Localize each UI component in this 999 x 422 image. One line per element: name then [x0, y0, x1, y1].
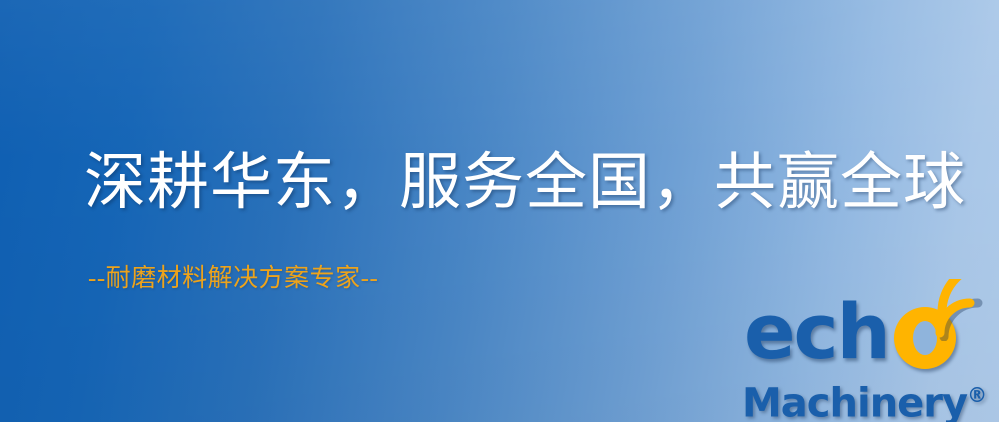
echo-machinery-logo[interactable]: ech Machinery®	[742, 293, 999, 422]
signal-wave-icon	[928, 279, 999, 341]
subtitle-text: --耐磨材料解决方案专家--	[88, 264, 378, 294]
promotional-hero-banner: 深耕华东，服务全国，共赢全球 --耐磨材料解决方案专家-- ech	[0, 0, 999, 422]
headline-text: 深耕华东，服务全国，共赢全球	[84, 147, 966, 219]
logo-machinery-word: Machinery	[742, 380, 967, 422]
logo-echo-prefix-text: ech	[744, 289, 889, 375]
logo-machinery-text: Machinery®	[742, 371, 987, 422]
registered-trademark-icon: ®	[967, 383, 987, 407]
logo-wordmark: ech	[742, 287, 957, 373]
